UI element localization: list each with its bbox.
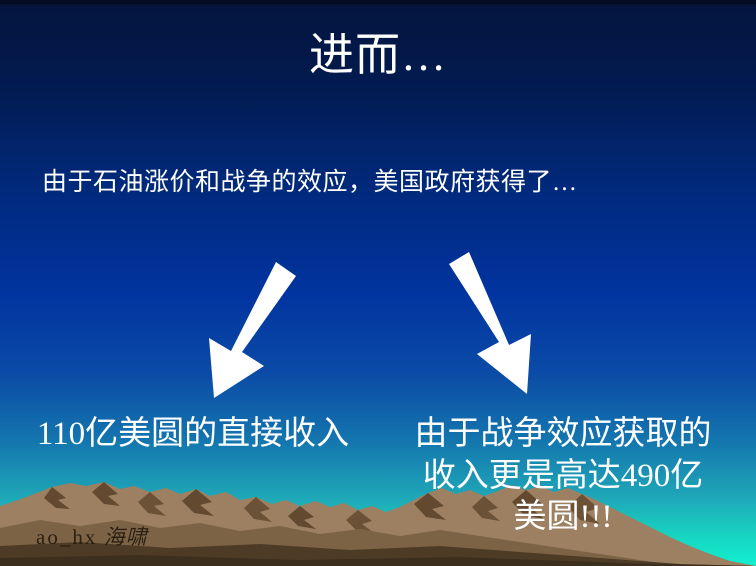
slide-title: 进而… <box>0 32 756 79</box>
watermark-ascii: ao_hx <box>36 525 97 549</box>
presentation-slide: 进而… 由于石油涨价和战争的效应，美国政府获得了… 110亿美圆的直接收入 由于… <box>0 0 756 566</box>
watermark-cjk: 海啸 <box>104 525 148 549</box>
slide-subtitle: 由于石油涨价和战争的效应，美国政府获得了… <box>42 168 578 198</box>
arrow-down-left-icon <box>209 262 296 398</box>
callout-right: 由于战争效应获取的收入更是高达490亿美圆!!! <box>408 414 718 539</box>
top-edge-band <box>0 0 756 4</box>
arrow-down-right-icon <box>449 252 531 394</box>
author-watermark: ao_hx 海啸 <box>36 521 148 551</box>
callout-left: 110亿美圆的直接收入 <box>28 414 358 456</box>
